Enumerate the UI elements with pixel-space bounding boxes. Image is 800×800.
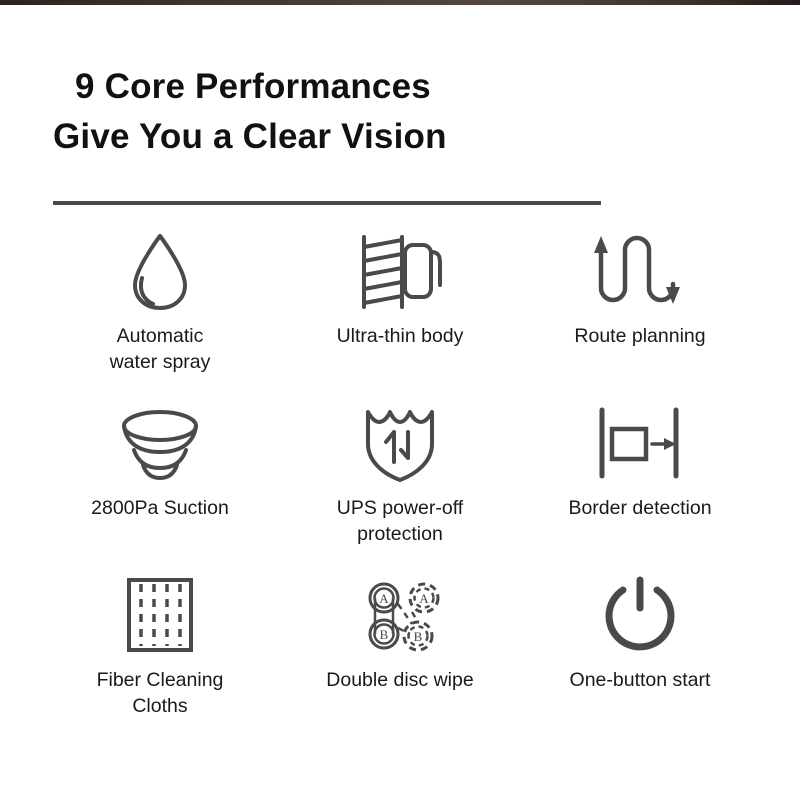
feature-label: Route planning bbox=[574, 323, 705, 349]
page-title-line-2: Give You a Clear Vision bbox=[53, 112, 753, 162]
top-edge-strip bbox=[0, 0, 800, 5]
feature-item-fiber-cleaning-cloths: Fiber Cleaning Cloths bbox=[40, 572, 280, 744]
feature-grid: Automatic water spray bbox=[40, 228, 760, 744]
feature-label: UPS power-off protection bbox=[337, 495, 463, 547]
feature-label: Border detection bbox=[568, 495, 711, 521]
suction-funnel-icon bbox=[112, 400, 208, 486]
feature-item-border-detection: Border detection bbox=[520, 400, 760, 572]
title-divider bbox=[53, 201, 601, 205]
feature-label: Ultra-thin body bbox=[337, 323, 464, 349]
water-drop-icon bbox=[121, 228, 199, 314]
svg-text:B: B bbox=[380, 627, 389, 642]
feature-item-ultra-thin-body: Ultra-thin body bbox=[280, 228, 520, 400]
feature-item-suction-power: 2800Pa Suction bbox=[40, 400, 280, 572]
feature-item-ups-power-off: UPS power-off protection bbox=[280, 400, 520, 572]
walls-robot-arrow-icon bbox=[590, 400, 690, 486]
feature-label: Automatic water spray bbox=[110, 323, 211, 375]
feature-highlight-page: 9 Core Performances Give You a Clear Vis… bbox=[0, 0, 800, 800]
svg-text:A: A bbox=[419, 591, 429, 606]
fiber-cloth-icon bbox=[117, 572, 203, 658]
page-title: 9 Core Performances Give You a Clear Vis… bbox=[53, 62, 753, 162]
feature-label: 2800Pa Suction bbox=[91, 495, 229, 521]
feature-item-one-button-start: One-button start bbox=[520, 572, 760, 744]
svg-text:B: B bbox=[414, 629, 423, 644]
svg-text:A: A bbox=[379, 591, 389, 606]
page-title-line-1: 9 Core Performances bbox=[53, 62, 753, 112]
feature-item-automatic-water-spray: Automatic water spray bbox=[40, 228, 280, 400]
ruler-body-icon bbox=[350, 228, 450, 314]
double-disc-icon: A B A B bbox=[350, 572, 450, 658]
feature-label: Fiber Cleaning Cloths bbox=[97, 667, 224, 719]
feature-label: Double disc wipe bbox=[326, 667, 473, 693]
power-button-icon bbox=[597, 572, 683, 658]
shield-arrows-icon bbox=[356, 400, 444, 486]
feature-label: One-button start bbox=[570, 667, 711, 693]
feature-item-route-planning: Route planning bbox=[520, 228, 760, 400]
serpentine-path-icon bbox=[585, 228, 695, 314]
feature-item-double-disc-wipe: A B A B Double disc wipe bbox=[280, 572, 520, 744]
